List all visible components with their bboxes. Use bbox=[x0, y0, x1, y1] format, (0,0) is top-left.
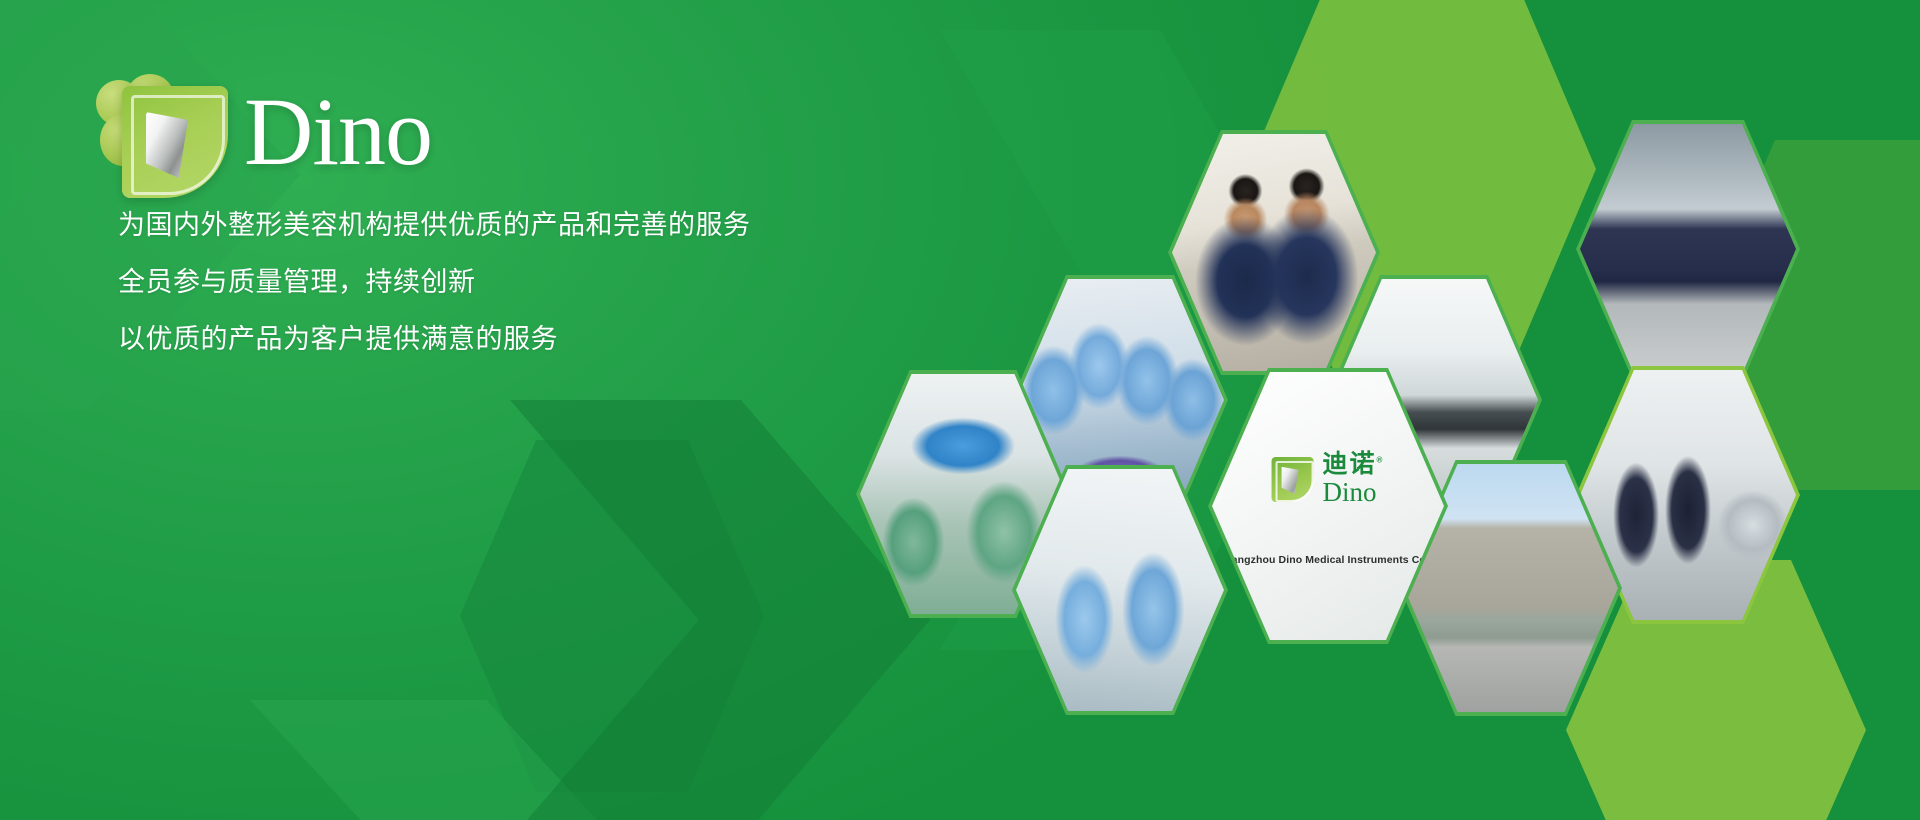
tagline-line-1: 为国内外整形美容机构提供优质的产品和完善的服务 bbox=[118, 212, 978, 239]
page-curl-icon bbox=[146, 112, 188, 178]
bg-chevron-left-lower bbox=[250, 700, 680, 820]
registered-mark: ® bbox=[1377, 456, 1385, 465]
center-brand-en: Dino bbox=[1323, 479, 1385, 506]
center-company-name: Hangzhou Dino Medical Instruments Co.. bbox=[1212, 554, 1444, 566]
center-brand-cn: 迪诺 bbox=[1323, 450, 1377, 478]
hex-photo-group-staff bbox=[1576, 120, 1800, 378]
tagline-line-2: 全员参与质量管理，持续创新 bbox=[118, 269, 978, 296]
tagline-line-3: 以优质的产品为客户提供满意的服务 bbox=[118, 326, 978, 353]
center-page-curl-icon bbox=[1282, 467, 1299, 494]
bg-chevron-center bbox=[510, 400, 930, 820]
brand-wordmark: Dino bbox=[244, 84, 432, 180]
bg-hexagon-dark-center bbox=[460, 440, 764, 792]
hero-banner: Dino 为国内外整形美容机构提供优质的产品和完善的服务 全员参与质量管理，持续… bbox=[0, 0, 1920, 820]
d-letter-mark-icon bbox=[122, 86, 228, 198]
tagline-group: 为国内外整形美容机构提供优质的产品和完善的服务 全员参与质量管理，持续创新 以优… bbox=[118, 212, 978, 383]
center-d-letter-mark-icon bbox=[1272, 457, 1314, 502]
brand-logo: Dino bbox=[92, 72, 512, 182]
center-logo-row: 迪诺® Dino bbox=[1272, 452, 1385, 506]
